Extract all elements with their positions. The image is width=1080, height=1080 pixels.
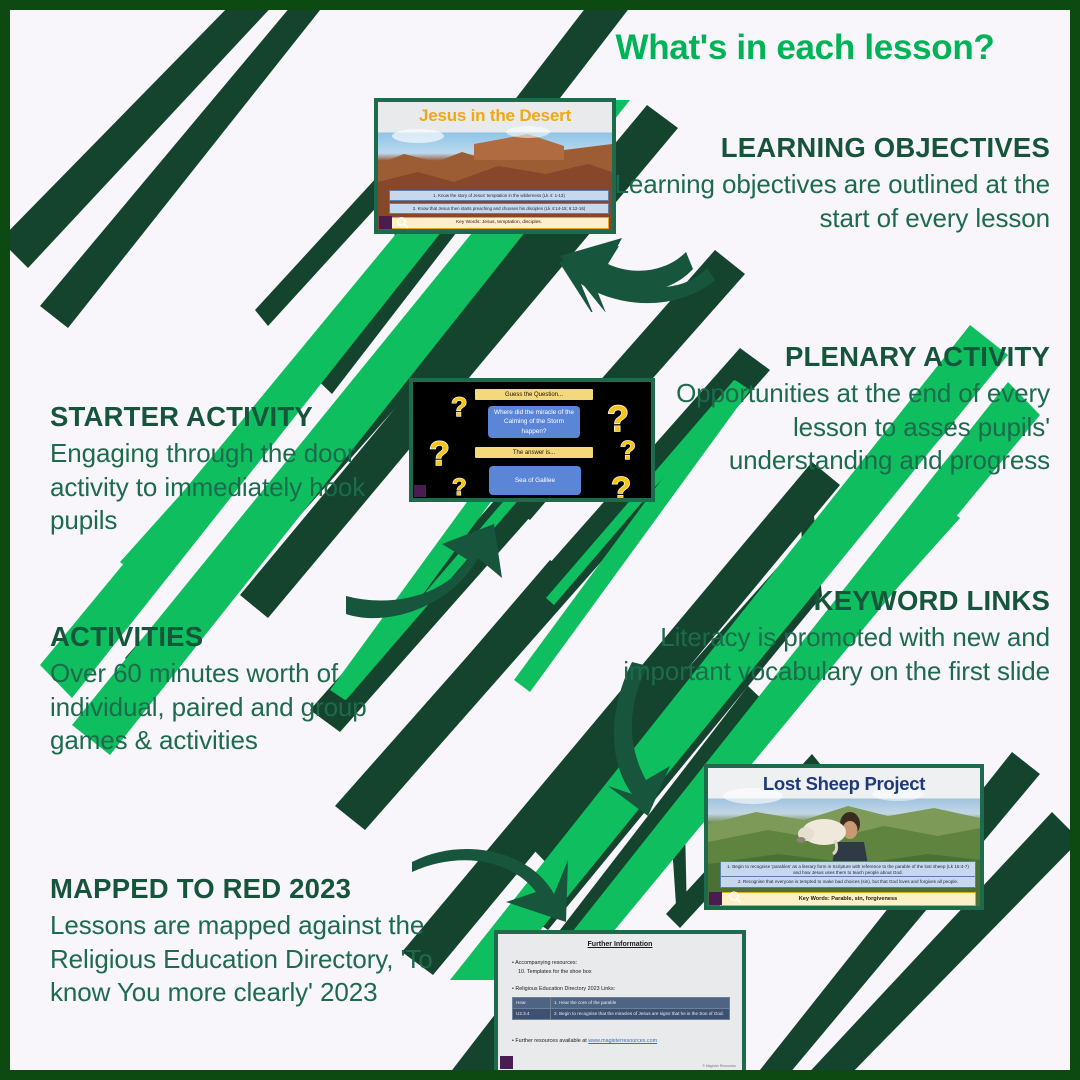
section-heading: ACTIVITIES: [50, 622, 450, 653]
slide-title: Lost Sheep Project: [708, 773, 980, 795]
question-mark-icon: ?: [427, 432, 457, 472]
slide-title: Jesus in the Desert: [378, 106, 612, 126]
slide-footer: © Magister Resources: [702, 1064, 736, 1068]
magnifier-icon: [396, 216, 410, 230]
arrow-up-left-icon: [555, 232, 725, 312]
poster-page: What's in each lesson? Jesus in the Dese…: [0, 0, 1080, 1080]
question-mark-icon: ?: [451, 472, 471, 500]
table-cell-code: U2.3.4: [513, 1008, 551, 1019]
info-line-further-resources: • Further resources available at www.mag…: [512, 1038, 657, 1046]
publisher-logo: [709, 892, 722, 905]
section-mapped-to-red-2023: MAPPED TO RED 2023 Lessons are mapped ag…: [50, 874, 480, 1010]
section-keyword-links: KEYWORD LINKS Literacy is promoted with …: [610, 586, 1050, 688]
section-activities: ACTIVITIES Over 60 minutes worth of indi…: [50, 622, 450, 758]
slide-objective-2: 2. Recognise that everyone is tempted to…: [720, 876, 976, 888]
question-mark-icon: ?: [619, 434, 641, 464]
section-heading: MAPPED TO RED 2023: [50, 874, 480, 905]
section-heading: LEARNING OBJECTIVES: [610, 133, 1050, 164]
section-heading: STARTER ACTIVITY: [50, 402, 430, 433]
slide-thumbnail-jesus-in-the-desert[interactable]: Jesus in the Desert 1. Know the story of…: [374, 98, 616, 234]
slide-thumbnail-guess-the-question[interactable]: ? ? ? ? ? ? Guess the Question... Where …: [409, 378, 655, 502]
svg-text:?: ?: [452, 474, 467, 500]
question-mark-icon: ?: [449, 390, 473, 422]
publisher-logo: [500, 1056, 513, 1069]
info-line-accompanying-resources: • Accompanying resources:: [512, 960, 577, 968]
section-plenary-activity: PLENARY ACTIVITY Opportunities at the en…: [650, 342, 1050, 478]
question-mark-icon: ?: [605, 396, 635, 438]
slide-objective-2: 2. Know that Jesus then starts preaching…: [389, 203, 609, 214]
svg-text:?: ?: [620, 435, 636, 464]
table-row: Hear 1. Hear the core of the parable: [513, 998, 730, 1009]
info-line-templates: 10. Templates for the shoe box: [518, 969, 592, 977]
slide-title: Further Information: [498, 941, 742, 948]
further-resources-link[interactable]: www.magisterresources.com: [588, 1038, 657, 1044]
magnifier-icon: [728, 890, 743, 905]
table-cell-text: 1. Hear the core of the parable: [551, 998, 730, 1009]
slide-thumbnail-further-information[interactable]: Further Information • Accompanying resou…: [494, 930, 746, 1070]
poster-canvas: What's in each lesson? Jesus in the Dese…: [10, 10, 1070, 1070]
slide-objective-1: 1. Know the story of Jesus' temptation i…: [389, 190, 609, 201]
section-body: Literacy is promoted with new and import…: [610, 621, 1050, 689]
slide-thumbnail-lost-sheep-project[interactable]: Lost Sheep Project 1. Begin to recognise…: [704, 764, 984, 910]
red-links-table: Hear 1. Hear the core of the parable U2.…: [512, 997, 730, 1020]
publisher-logo: [379, 216, 392, 229]
svg-text:?: ?: [429, 435, 450, 472]
slide-keywords: Key Words: Jesus, temptation, disciples.: [389, 217, 609, 229]
section-body: Over 60 minutes worth of individual, pai…: [50, 657, 450, 758]
svg-text:?: ?: [611, 470, 631, 502]
section-body: Learning objectives are outlined at the …: [610, 168, 1050, 236]
section-body: Opportunities at the end of every lesson…: [650, 377, 1050, 478]
table-cell-text: 2. Begin to recognise that the miracles …: [551, 1008, 730, 1019]
quiz-answer-label: The answer is...: [475, 447, 593, 458]
slide-keywords: Key Words: Parable, sin, forgiveness: [720, 892, 976, 906]
table-cell-code: Hear: [513, 998, 551, 1009]
quiz-question: Where did the miracle of the Calming of …: [488, 406, 580, 438]
page-title: What's in each lesson?: [550, 28, 1060, 68]
table-row: U2.3.4 2. Begin to recognise that the mi…: [513, 1008, 730, 1019]
section-learning-objectives: LEARNING OBJECTIVES Learning objectives …: [610, 133, 1050, 235]
further-resources-prefix: • Further resources available at: [512, 1038, 588, 1044]
section-heading: KEYWORD LINKS: [610, 586, 1050, 617]
quiz-answer: Sea of Galilee: [489, 466, 581, 495]
question-mark-icon: ?: [609, 468, 637, 502]
section-body: Lessons are mapped against the Religious…: [50, 909, 480, 1010]
section-body: Engaging through the door activity to im…: [50, 437, 430, 538]
svg-text:?: ?: [607, 398, 629, 438]
section-heading: PLENARY ACTIVITY: [650, 342, 1050, 373]
svg-text:?: ?: [451, 392, 468, 422]
info-line-red-links: • Religious Education Directory 2023 Lin…: [512, 986, 615, 994]
publisher-logo: [414, 485, 426, 497]
quiz-prompt-label: Guess the Question...: [475, 389, 593, 400]
section-starter-activity: STARTER ACTIVITY Engaging through the do…: [50, 402, 430, 538]
